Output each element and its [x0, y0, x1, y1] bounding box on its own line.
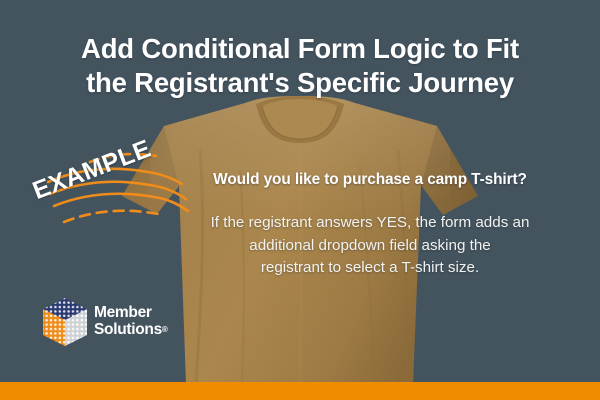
question-text: Would you like to purchase a camp T-shir… [170, 171, 570, 189]
brand-logo: Member Solutions® [40, 296, 180, 350]
description-line-1: If the registrant answers YES, the form … [168, 212, 572, 235]
brand-logo-text: Member Solutions® [94, 304, 168, 338]
infographic-canvas: Add Conditional Form Logic to Fit the Re… [0, 0, 600, 400]
brand-name-line-1: Member [94, 304, 168, 321]
description-line-3: registrant to select a T-shirt size. [168, 257, 572, 280]
description-text: If the registrant answers YES, the form … [168, 212, 572, 280]
registered-mark: ® [162, 325, 168, 334]
headline-line-1: Add Conditional Form Logic to Fit [0, 32, 600, 66]
description-line-2: additional dropdown field asking the [168, 235, 572, 258]
brand-name-line-2: Solutions® [94, 321, 168, 338]
bottom-accent-bar [0, 382, 600, 400]
member-solutions-cube-icon [40, 296, 90, 348]
headline-line-2: the Registrant's Specific Journey [0, 66, 600, 100]
page-title: Add Conditional Form Logic to Fit the Re… [0, 32, 600, 100]
